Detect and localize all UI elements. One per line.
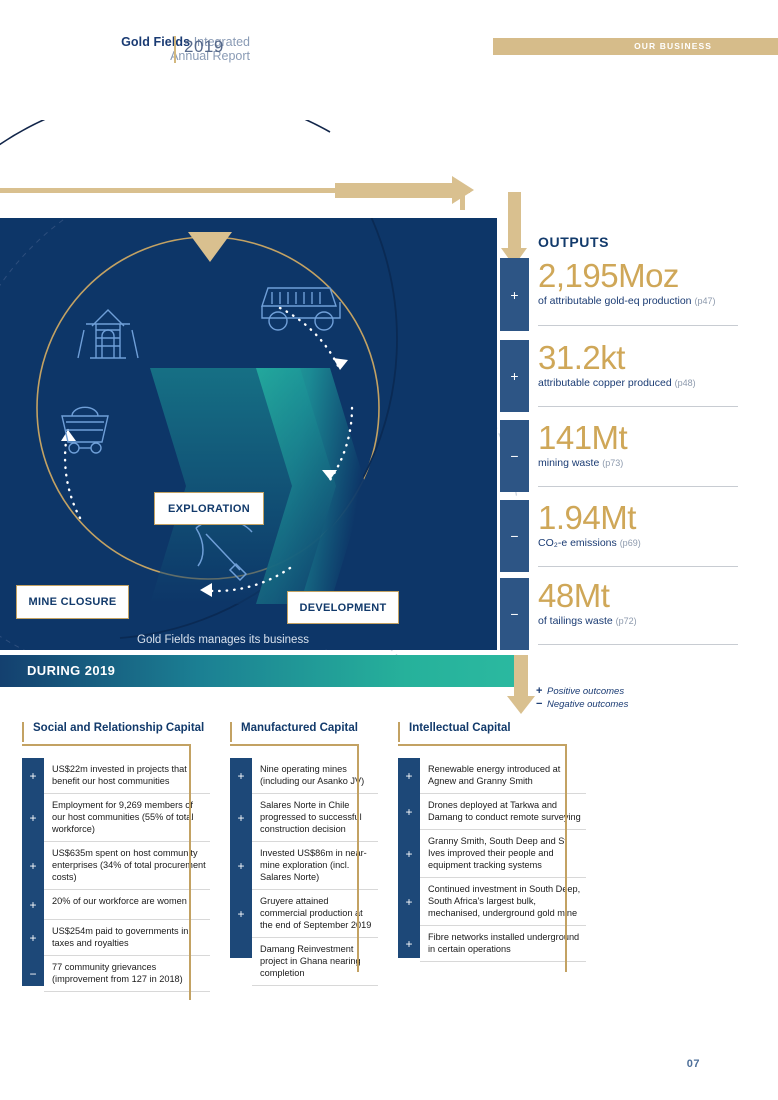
capital-item: +US$635m spent on host community enterpr… xyxy=(22,842,210,890)
capital-item-sign: − xyxy=(22,956,44,992)
legend-negative-sign: − xyxy=(536,698,547,710)
output-page-ref[interactable]: (p47) xyxy=(694,296,715,306)
legend-positive-label: Positive outcomes xyxy=(547,686,624,698)
capital-item-sign: + xyxy=(230,938,252,986)
output-value: 141Mt xyxy=(538,420,752,456)
capital-item: +Granny Smith, South Deep and St Ives im… xyxy=(398,830,586,878)
capital-item-text: 20% of our workforce are women xyxy=(44,890,210,920)
capital-item-text: Invested US$86m in near-mine exploration… xyxy=(252,842,378,890)
page-number: 07 xyxy=(687,1058,700,1070)
capital-bracket-right xyxy=(357,744,359,758)
capital-bracket-right xyxy=(565,744,567,758)
flow-arrow-shaft xyxy=(335,183,460,198)
capital-item-sign: + xyxy=(22,842,44,890)
during-2019-label: DURING 2019 xyxy=(27,663,115,678)
capital-item-text: US$254m paid to governments in taxes and… xyxy=(44,920,210,956)
report-year: 2019 xyxy=(184,37,224,57)
output-label-text: of tailings waste xyxy=(538,615,613,627)
capital-side-rule xyxy=(565,758,567,972)
outputs-heading: OUTPUTS xyxy=(538,234,609,250)
output-body: 48Mtof tailings waste (p72) xyxy=(538,578,752,628)
ore-cart-icon xyxy=(62,407,108,453)
output-page-ref[interactable]: (p69) xyxy=(620,538,641,548)
capital-item-text: Granny Smith, South Deep and St Ives imp… xyxy=(420,830,586,878)
output-divider xyxy=(538,406,738,407)
cycle-stage-label: MINE CLOSURE xyxy=(29,596,117,608)
capital-item-sign: + xyxy=(22,920,44,956)
capital-item: +Employment for 9,269 members of our hos… xyxy=(22,794,210,842)
section-tab-label: OUR BUSINESS xyxy=(634,41,712,51)
capital-item: −77 community grievances (improvement fr… xyxy=(22,956,210,992)
legend-negative-label: Negative outcomes xyxy=(547,699,628,711)
logo-divider xyxy=(174,36,176,63)
capital-item-sign: + xyxy=(230,842,252,890)
legend-row-negative: − Negative outcomes xyxy=(536,698,628,711)
capital-item-text: Gruyere attained commercial production a… xyxy=(252,890,378,938)
output-body: 141Mtmining waste (p73) xyxy=(538,420,752,470)
capital-item: +Drones deployed at Tarkwa and Damang to… xyxy=(398,794,586,830)
output-sign-chip: + xyxy=(500,340,529,412)
output-sign-chip: − xyxy=(500,500,529,572)
capital-item: +Gruyere attained commercial production … xyxy=(230,890,378,938)
output-divider xyxy=(538,486,738,487)
output-label-text: CO₂-e emissions xyxy=(538,537,617,549)
capital-item: +20% of our workforce are women xyxy=(22,890,210,920)
cycle-stage-label: EXPLORATION xyxy=(168,503,250,515)
output-label: attributable copper produced (p48) xyxy=(538,377,752,390)
section-tab-our-business: OUR BUSINESS xyxy=(493,38,778,55)
capital-item-sign: + xyxy=(22,758,44,794)
capital-bracket xyxy=(398,744,586,758)
cycle-centre-copy: Gold Fields manages its business with th… xyxy=(137,633,327,650)
capital-item-list: +Nine operating mines (including our Asa… xyxy=(230,758,378,986)
capital-bracket xyxy=(22,744,210,758)
output-label: CO₂-e emissions (p69) xyxy=(538,537,752,550)
capital-side-rule xyxy=(357,758,359,972)
capital-item-sign: + xyxy=(230,890,252,938)
capital-item-list: +US$22m invested in projects that benefi… xyxy=(22,758,210,992)
cycle-stage-label: DEVELOPMENT xyxy=(299,602,386,614)
capital-column-intellectual: Intellectual Capital+Renewable energy in… xyxy=(398,722,586,962)
capital-item-sign: + xyxy=(230,794,252,842)
output-body: 1.94MtCO₂-e emissions (p69) xyxy=(538,500,752,550)
capital-item-sign: + xyxy=(398,794,420,830)
capital-side-rule xyxy=(189,758,191,1000)
flow-arrow-corner xyxy=(460,188,465,210)
output-label: of tailings waste (p72) xyxy=(538,615,752,628)
output-value: 2,195Moz xyxy=(538,258,752,294)
banner-arrow-head-down-icon xyxy=(507,696,535,714)
output-value: 31.2kt xyxy=(538,340,752,376)
capital-bracket xyxy=(230,744,378,758)
cycle-stage-development[interactable]: DEVELOPMENT xyxy=(287,591,399,624)
output-page-ref[interactable]: (p48) xyxy=(675,378,696,388)
output-divider xyxy=(538,566,738,567)
capital-item: +Invested US$86m in near-mine exploratio… xyxy=(230,842,378,890)
output-sign-chip: + xyxy=(500,258,529,331)
output-page-ref[interactable]: (p73) xyxy=(602,458,623,468)
capital-column-manufactured: Manufactured Capital+Nine operating mine… xyxy=(230,722,378,986)
logo-brand: Gold Fields xyxy=(121,35,190,49)
capital-item: +Nine operating mines (including our Asa… xyxy=(230,758,378,794)
capital-title: Social and Relationship Capital xyxy=(22,722,210,744)
capital-item-text: Damang Reinvestment project in Ghana nea… xyxy=(252,938,378,986)
output-sign-chip: − xyxy=(500,578,529,650)
output-body: 31.2ktattributable copper produced (p48) xyxy=(538,340,752,390)
cycle-stage-mine-closure[interactable]: MINE CLOSURE xyxy=(16,585,129,619)
capital-item: +Continued investment in South Deep, Sou… xyxy=(398,878,586,926)
capital-item-sign: + xyxy=(398,830,420,878)
capital-item-sign: + xyxy=(22,794,44,842)
capital-item: +US$254m paid to governments in taxes an… xyxy=(22,920,210,956)
capital-item-text: US$635m spent on host community enterpri… xyxy=(44,842,210,890)
capital-item-text: Drones deployed at Tarkwa and Damang to … xyxy=(420,794,586,830)
capital-item: +US$22m invested in projects that benefi… xyxy=(22,758,210,794)
capital-title: Manufactured Capital xyxy=(230,722,378,744)
capital-item-text: Nine operating mines (including our Asan… xyxy=(252,758,378,794)
cycle-stage-exploration[interactable]: EXPLORATION xyxy=(154,492,264,525)
output-label-text: mining waste xyxy=(538,457,599,469)
capital-item-text: US$22m invested in projects that benefit… xyxy=(44,758,210,794)
capital-item-sign: + xyxy=(22,890,44,920)
banner-arrow-shaft xyxy=(514,655,528,700)
capital-item-list: +Renewable energy introduced at Agnew an… xyxy=(398,758,586,962)
outcome-legend: + Positive outcomes − Negative outcomes xyxy=(536,685,628,711)
legend-positive-sign: + xyxy=(536,685,547,697)
output-label-text: of attributable gold-eq production xyxy=(538,295,692,307)
capital-item-sign: + xyxy=(230,758,252,794)
output-divider xyxy=(538,325,738,326)
output-page-ref[interactable]: (p72) xyxy=(616,616,637,626)
capital-bracket-top xyxy=(230,744,358,746)
capital-item-text: Salares Norte in Chile progressed to suc… xyxy=(252,794,378,842)
haul-truck-icon xyxy=(262,288,340,330)
value-cycle-panel: EXPLORATION DEVELOPMENT MINING PROCESSIN… xyxy=(0,218,497,650)
output-sign-chip: − xyxy=(500,420,529,492)
capital-bracket-right xyxy=(189,744,191,758)
capital-item: +Damang Reinvestment project in Ghana ne… xyxy=(230,938,378,986)
capital-item-text: Fibre networks installed underground in … xyxy=(420,926,586,962)
capital-item-text: Employment for 9,269 members of our host… xyxy=(44,794,210,842)
capital-item-sign: + xyxy=(398,758,420,794)
report-page: Gold Fields Integrated Annual Report 201… xyxy=(0,0,778,1100)
headframe-icon xyxy=(78,310,138,358)
output-value: 1.94Mt xyxy=(538,500,752,536)
output-body: 2,195Mozof attributable gold-eq producti… xyxy=(538,258,752,308)
capital-item: +Salares Norte in Chile progressed to su… xyxy=(230,794,378,842)
output-value: 48Mt xyxy=(538,578,752,614)
output-label-text: attributable copper produced xyxy=(538,377,672,389)
capital-column-social-relationship: Social and Relationship Capital+US$22m i… xyxy=(22,722,210,992)
capital-item: +Renewable energy introduced at Agnew an… xyxy=(398,758,586,794)
capital-item-text: Renewable energy introduced at Agnew and… xyxy=(420,758,586,794)
capital-bracket-top xyxy=(22,744,190,746)
outputs-arrow-shaft xyxy=(508,192,521,254)
capital-title: Intellectual Capital xyxy=(398,722,586,744)
during-2019-banner: DURING 2019 xyxy=(0,655,520,687)
output-label: mining waste (p73) xyxy=(538,457,752,470)
capital-item-text: 77 community grievances (improvement fro… xyxy=(44,956,210,992)
capital-item-text: Continued investment in South Deep, Sout… xyxy=(420,878,586,926)
capital-item: +Fibre networks installed underground in… xyxy=(398,926,586,962)
legend-row-positive: + Positive outcomes xyxy=(536,685,628,698)
output-divider xyxy=(538,644,738,645)
capital-item-sign: + xyxy=(398,878,420,926)
capital-bracket-top xyxy=(398,744,566,746)
capital-item-sign: + xyxy=(398,926,420,962)
output-label: of attributable gold-eq production (p47) xyxy=(538,295,752,308)
